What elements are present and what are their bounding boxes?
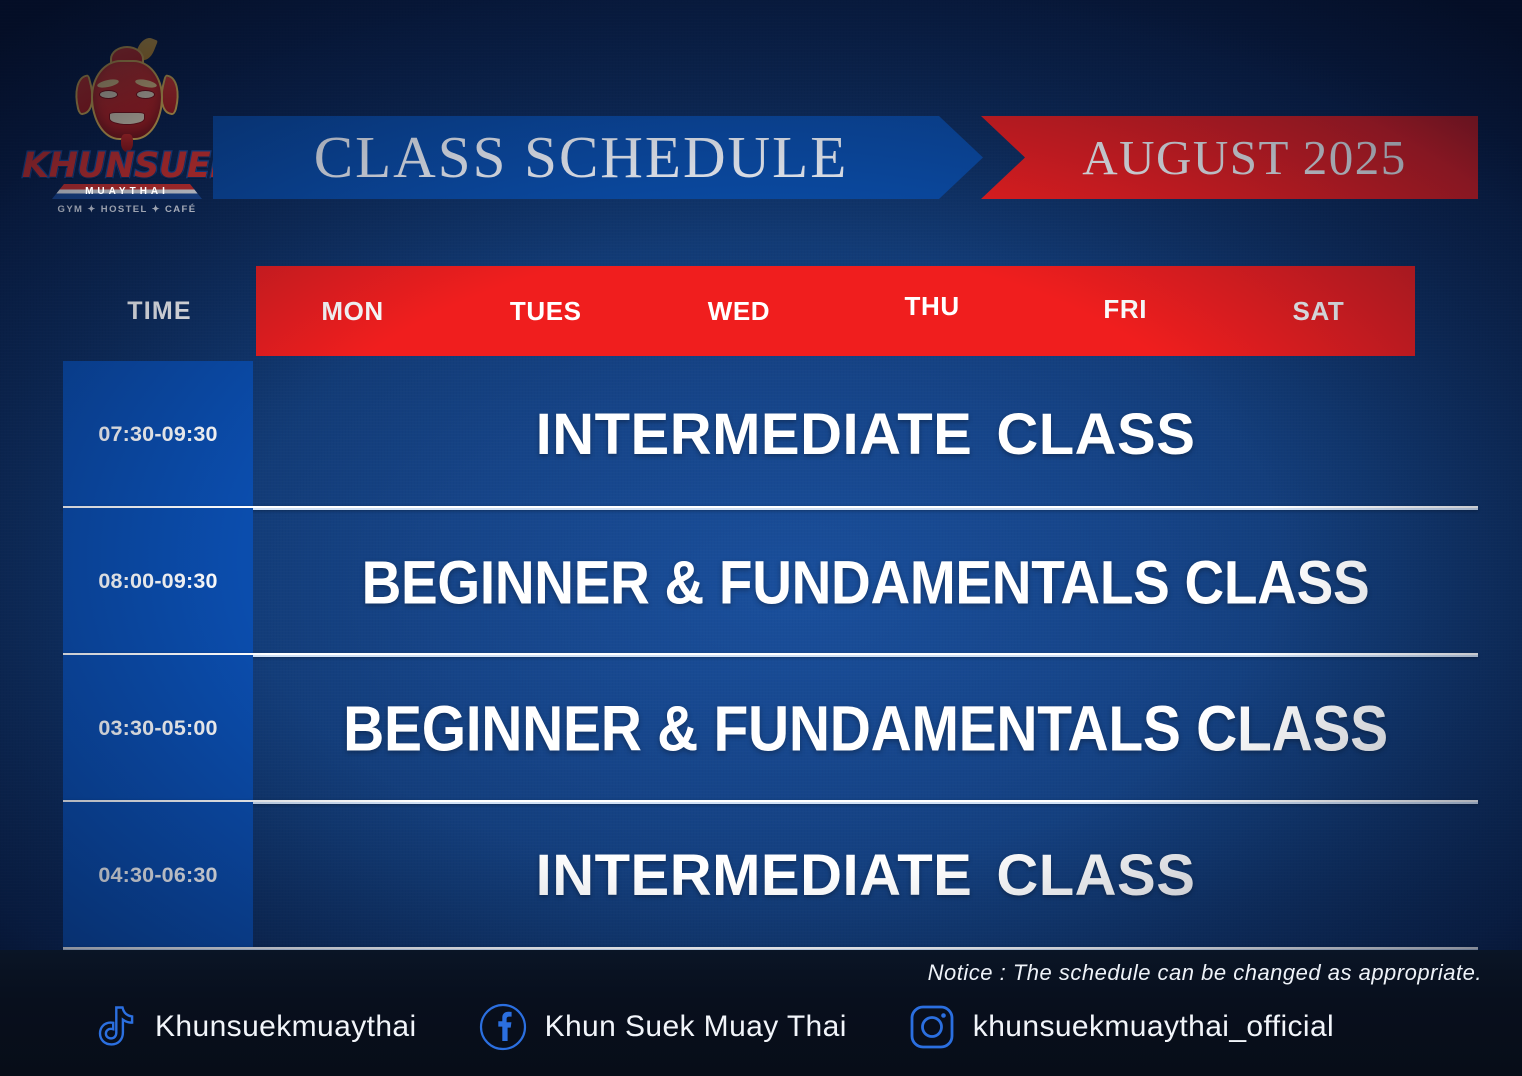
instagram-icon bbox=[909, 1004, 955, 1050]
thai-khon-mask-icon bbox=[72, 46, 182, 158]
time-slot-label: 08:00-09:30 bbox=[98, 569, 217, 594]
logo-tagline: GYM ✦ HOSTEL ✦ CAFÉ bbox=[22, 204, 232, 215]
class-name-label: INTERMEDIATECLASS bbox=[536, 842, 1196, 909]
tiktok-handle: Khunsuekmuaythai bbox=[155, 1010, 417, 1044]
time-column-header: TIME bbox=[63, 266, 256, 356]
facebook-handle: Khun Suek Muay Thai bbox=[545, 1010, 847, 1044]
class-schedule-poster: KHUNSUEK MUAYTHAI GYM ✦ HOSTEL ✦ CAFÉ CL… bbox=[0, 0, 1522, 1076]
table-row: 08:00-09:30 BEGINNER & FUNDAMENTALS CLAS… bbox=[63, 508, 1478, 655]
logo-subtitle: MUAYTHAI bbox=[22, 186, 232, 197]
day-header-fri: FRI bbox=[1029, 294, 1222, 325]
mask-mouth-icon bbox=[109, 112, 145, 125]
schedule-rows: 07:30-09:30 INTERMEDIATECLASS 08:00-09:3… bbox=[63, 361, 1478, 950]
mask-eye-left-icon bbox=[99, 90, 118, 99]
day-header-wed: WED bbox=[642, 296, 835, 327]
time-slot-cell: 08:00-09:30 bbox=[63, 508, 253, 655]
brand-logo: KHUNSUEK MUAYTHAI GYM ✦ HOSTEL ✦ CAFÉ bbox=[22, 46, 232, 216]
day-header-mon: MON bbox=[256, 296, 449, 327]
time-header-label: TIME bbox=[127, 297, 192, 326]
time-slot-cell: 07:30-09:30 bbox=[63, 361, 253, 508]
table-header-row: TIME MON TUES WED THU FRI SAT bbox=[63, 266, 1415, 356]
time-slot-cell: 03:30-05:00 bbox=[63, 655, 253, 802]
poster-footer: Notice : The schedule can be changed as … bbox=[0, 950, 1522, 1076]
social-instagram[interactable]: khunsuekmuaythai_official bbox=[909, 1004, 1334, 1050]
social-tiktok[interactable]: Khunsuekmuaythai bbox=[95, 1004, 417, 1050]
schedule-title-banner: CLASS SCHEDULE bbox=[213, 116, 983, 199]
instagram-handle: khunsuekmuaythai_official bbox=[973, 1010, 1334, 1044]
day-header-tues: TUES bbox=[449, 296, 642, 327]
class-name-label: BEGINNER & FUNDAMENTALS CLASS bbox=[362, 546, 1370, 618]
social-links: Khunsuekmuaythai Khun Suek Muay Thai bbox=[95, 998, 1475, 1056]
time-slot-label: 03:30-05:00 bbox=[98, 716, 217, 741]
tiktok-icon bbox=[95, 1004, 137, 1050]
mask-eye-right-icon bbox=[136, 90, 155, 99]
social-facebook[interactable]: Khun Suek Muay Thai bbox=[479, 1003, 847, 1051]
time-slot-label: 04:30-06:30 bbox=[98, 863, 217, 888]
period-banner: AUGUST 2025 bbox=[981, 116, 1478, 199]
page-title: CLASS SCHEDULE bbox=[314, 123, 882, 192]
time-slot-cell: 04:30-06:30 bbox=[63, 802, 253, 949]
facebook-icon bbox=[479, 1003, 527, 1051]
class-cell: BEGINNER & FUNDAMENTALS CLASS bbox=[253, 655, 1478, 802]
table-row: 07:30-09:30 INTERMEDIATECLASS bbox=[63, 361, 1478, 508]
day-columns-header: MON TUES WED THU FRI SAT bbox=[256, 266, 1415, 356]
table-row: 03:30-05:00 BEGINNER & FUNDAMENTALS CLAS… bbox=[63, 655, 1478, 802]
class-name-label: INTERMEDIATECLASS bbox=[536, 401, 1196, 468]
time-slot-label: 07:30-09:30 bbox=[98, 422, 217, 447]
class-cell: INTERMEDIATECLASS bbox=[253, 802, 1478, 949]
day-header-sat: SAT bbox=[1222, 296, 1415, 327]
mask-face-icon bbox=[91, 60, 163, 140]
schedule-period: AUGUST 2025 bbox=[1052, 129, 1407, 186]
class-cell: INTERMEDIATECLASS bbox=[253, 361, 1478, 508]
class-cell: BEGINNER & FUNDAMENTALS CLASS bbox=[253, 508, 1478, 655]
table-row: 04:30-06:30 INTERMEDIATECLASS bbox=[63, 802, 1478, 949]
logo-wordmark: KHUNSUEK bbox=[22, 146, 232, 186]
day-header-thu: THU bbox=[836, 291, 1029, 322]
class-name-label: BEGINNER & FUNDAMENTALS CLASS bbox=[343, 692, 1388, 766]
schedule-notice: Notice : The schedule can be changed as … bbox=[928, 960, 1482, 986]
